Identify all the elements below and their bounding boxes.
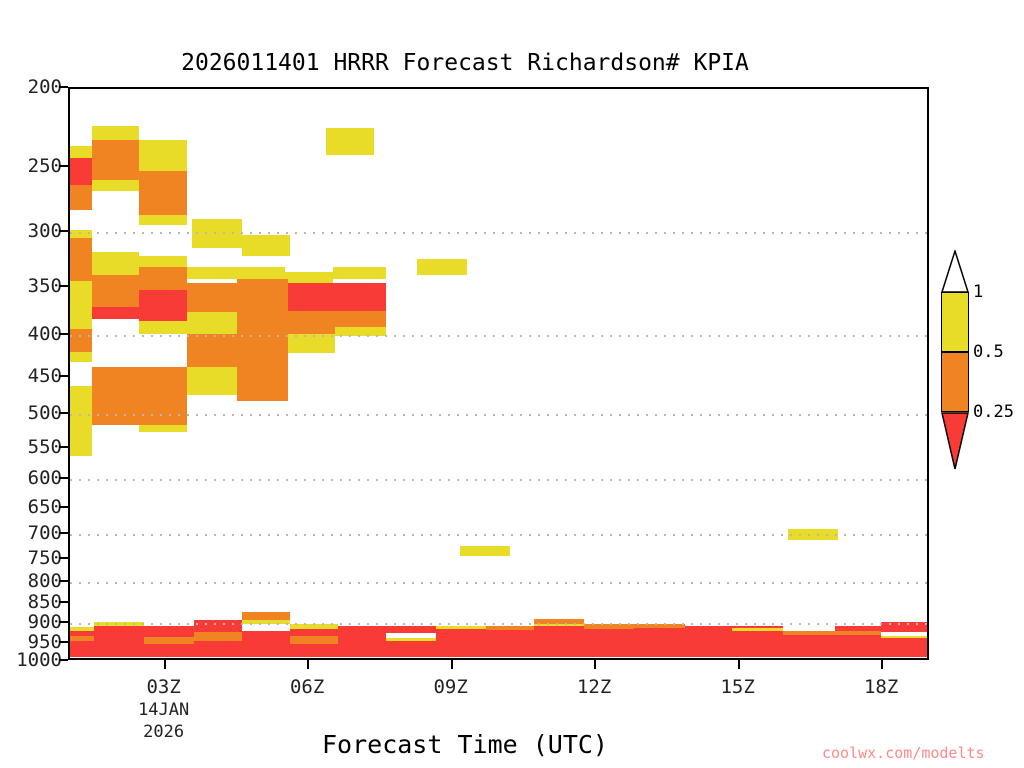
y-axis-tick-mark — [59, 230, 68, 232]
y-axis-tick-mark — [59, 165, 68, 167]
heatmap-cell — [881, 622, 929, 631]
heatmap-cell — [139, 267, 187, 290]
y-axis-tick-label: 850 — [0, 591, 62, 613]
heatmap-cell — [584, 629, 634, 658]
heatmap-cell — [288, 334, 336, 353]
heatmap-cell — [92, 140, 140, 179]
y-axis-tick-label: 650 — [0, 496, 62, 518]
x-axis-tick-label: 09Z — [433, 676, 467, 698]
heatmap-cell — [94, 626, 144, 640]
x-axis-title: Forecast Time (UTC) — [0, 730, 930, 759]
heatmap-cell — [92, 407, 188, 425]
x-axis-tick-label: 18Z — [864, 676, 898, 698]
y-axis-tick-mark — [59, 412, 68, 414]
heatmap-cell — [486, 626, 534, 630]
heatmap-cell — [338, 626, 436, 657]
heatmap-cell — [139, 215, 187, 225]
heatmap-cell — [139, 171, 187, 215]
x-axis-tick-mark — [307, 660, 309, 669]
terrain-fill — [70, 658, 927, 660]
y-axis-tick-label: 550 — [0, 436, 62, 458]
heatmap-cell — [285, 272, 333, 284]
y-axis-tick-mark — [59, 532, 68, 534]
heatmap-cell — [326, 128, 374, 156]
heatmap-cell — [634, 628, 684, 657]
heatmap-cell — [881, 638, 929, 657]
heatmap-cell — [94, 641, 144, 658]
y-axis-tick-mark — [59, 506, 68, 508]
heatmap-cell — [139, 321, 187, 334]
y-axis-tick-label: 200 — [0, 76, 62, 98]
y-axis-tick-label: 750 — [0, 547, 62, 569]
heatmap-cell — [194, 632, 242, 641]
heatmap-cell — [237, 267, 285, 279]
heatmap-cell — [139, 140, 187, 171]
x-axis-tick-mark — [164, 660, 166, 669]
heatmap-cell — [290, 644, 338, 658]
y-axis-tick-mark — [59, 641, 68, 643]
terrain-top-dotted — [70, 658, 927, 660]
heatmap-cell — [92, 307, 140, 319]
heatmap-cell — [194, 641, 242, 657]
heatmap-cell — [187, 283, 237, 312]
y-axis-tick-mark — [59, 557, 68, 559]
y-axis-tick-mark — [59, 659, 68, 661]
heatmap-cell — [70, 158, 92, 185]
heatmap-cell — [139, 290, 187, 321]
colorbar-bottom-arrow-icon — [941, 412, 969, 470]
x-axis-tick-mark — [738, 660, 740, 669]
heatmap-cell — [187, 334, 237, 367]
colorbar-segment-yellow — [941, 292, 969, 352]
y-axis-tick-label: 1000 — [0, 649, 62, 671]
heatmap-cell — [288, 283, 386, 311]
y-axis-tick-mark — [59, 446, 68, 448]
heatmap-cell — [242, 624, 290, 631]
heatmap-cell — [187, 312, 237, 334]
heatmap-cell — [237, 367, 287, 401]
heatmap-cell — [144, 626, 194, 637]
heatmap-cell — [92, 180, 140, 191]
heatmap-cell — [783, 631, 881, 635]
colorbar-label-05: 0.5 — [973, 342, 1004, 362]
y-axis-tick-label: 250 — [0, 155, 62, 177]
chart-title: 2026011401 HRRR Forecast Richardson# KPI… — [0, 50, 930, 76]
heatmap-cell — [70, 329, 92, 353]
x-axis-tick-label: 12Z — [577, 676, 611, 698]
colorbar-label-025: 0.25 — [973, 402, 1014, 422]
heatmap-cell — [237, 279, 287, 339]
heatmap-cell — [436, 629, 534, 657]
colorbar-top-arrow-icon — [941, 250, 969, 293]
heatmap-cell — [70, 146, 92, 158]
x-axis-date-line1: 14JAN — [138, 700, 189, 720]
y-axis-tick-mark — [59, 86, 68, 88]
plot-area — [68, 87, 929, 660]
heatmap-cell — [194, 620, 242, 633]
heatmap-cell — [386, 638, 436, 641]
heatmap-cell — [732, 628, 782, 631]
y-axis-tick-mark — [59, 333, 68, 335]
heatmap-cell — [139, 425, 187, 432]
heatmap-cell — [290, 636, 338, 644]
x-axis-tick-mark — [594, 660, 596, 669]
y-axis-tick-mark — [59, 375, 68, 377]
heatmap-cell — [92, 126, 140, 140]
y-axis-tick-label: 400 — [0, 323, 62, 345]
watermark: coolwx.com/modelts — [822, 744, 985, 762]
heatmap-cell — [70, 230, 92, 238]
heatmap-cell — [460, 546, 510, 556]
y-axis-tick-label: 500 — [0, 402, 62, 424]
heatmap-cell — [70, 238, 92, 281]
heatmap-cells — [70, 89, 927, 658]
colorbar-legend: 1 0.5 0.25 — [941, 292, 971, 470]
heatmap-cell — [70, 641, 94, 658]
heatmap-cell — [70, 352, 92, 361]
y-axis-tick-label: 300 — [0, 220, 62, 242]
colorbar-label-1: 1 — [973, 282, 983, 302]
x-axis-tick-label: 03Z — [146, 676, 180, 698]
y-axis-tick-label: 600 — [0, 467, 62, 489]
heatmap-cell — [290, 629, 338, 636]
y-axis-tick-label: 450 — [0, 365, 62, 387]
heatmap-cell — [92, 367, 188, 407]
y-axis-tick-mark — [59, 621, 68, 623]
y-axis-tick-mark — [59, 285, 68, 287]
heatmap-cell — [333, 267, 386, 279]
heatmap-cell — [417, 259, 467, 275]
heatmap-cell — [139, 256, 187, 267]
y-axis-tick-label: 350 — [0, 275, 62, 297]
y-axis-tick-label: 700 — [0, 522, 62, 544]
heatmap-cell — [788, 529, 838, 540]
heatmap-cell — [534, 626, 584, 657]
heatmap-cell — [242, 631, 290, 658]
heatmap-cell — [237, 339, 287, 367]
heatmap-cell — [144, 644, 194, 658]
heatmap-cell — [192, 219, 242, 249]
y-axis-tick-label: 800 — [0, 570, 62, 592]
heatmap-cell — [242, 612, 290, 620]
heatmap-cell — [242, 235, 290, 257]
heatmap-cell — [436, 626, 486, 629]
heatmap-cell — [187, 267, 237, 279]
heatmap-cell — [92, 290, 140, 307]
chart-root: 2026011401 HRRR Forecast Richardson# KPI… — [0, 0, 1024, 768]
heatmap-cell — [335, 327, 385, 336]
y-axis-tick-mark — [59, 601, 68, 603]
x-axis-tick-label: 06Z — [290, 676, 324, 698]
x-axis-tick-mark — [881, 660, 883, 669]
heatmap-cell — [187, 367, 237, 395]
heatmap-cell — [92, 252, 140, 275]
x-axis-tick-label: 15Z — [720, 676, 754, 698]
heatmap-cell — [70, 185, 92, 210]
heatmap-cell — [70, 407, 92, 455]
heatmap-cell — [70, 386, 92, 408]
colorbar-segment-orange — [941, 352, 969, 412]
heatmap-cell — [70, 281, 92, 329]
y-axis-tick-mark — [59, 580, 68, 582]
y-axis-tick-mark — [59, 477, 68, 479]
x-axis-tick-mark — [451, 660, 453, 669]
